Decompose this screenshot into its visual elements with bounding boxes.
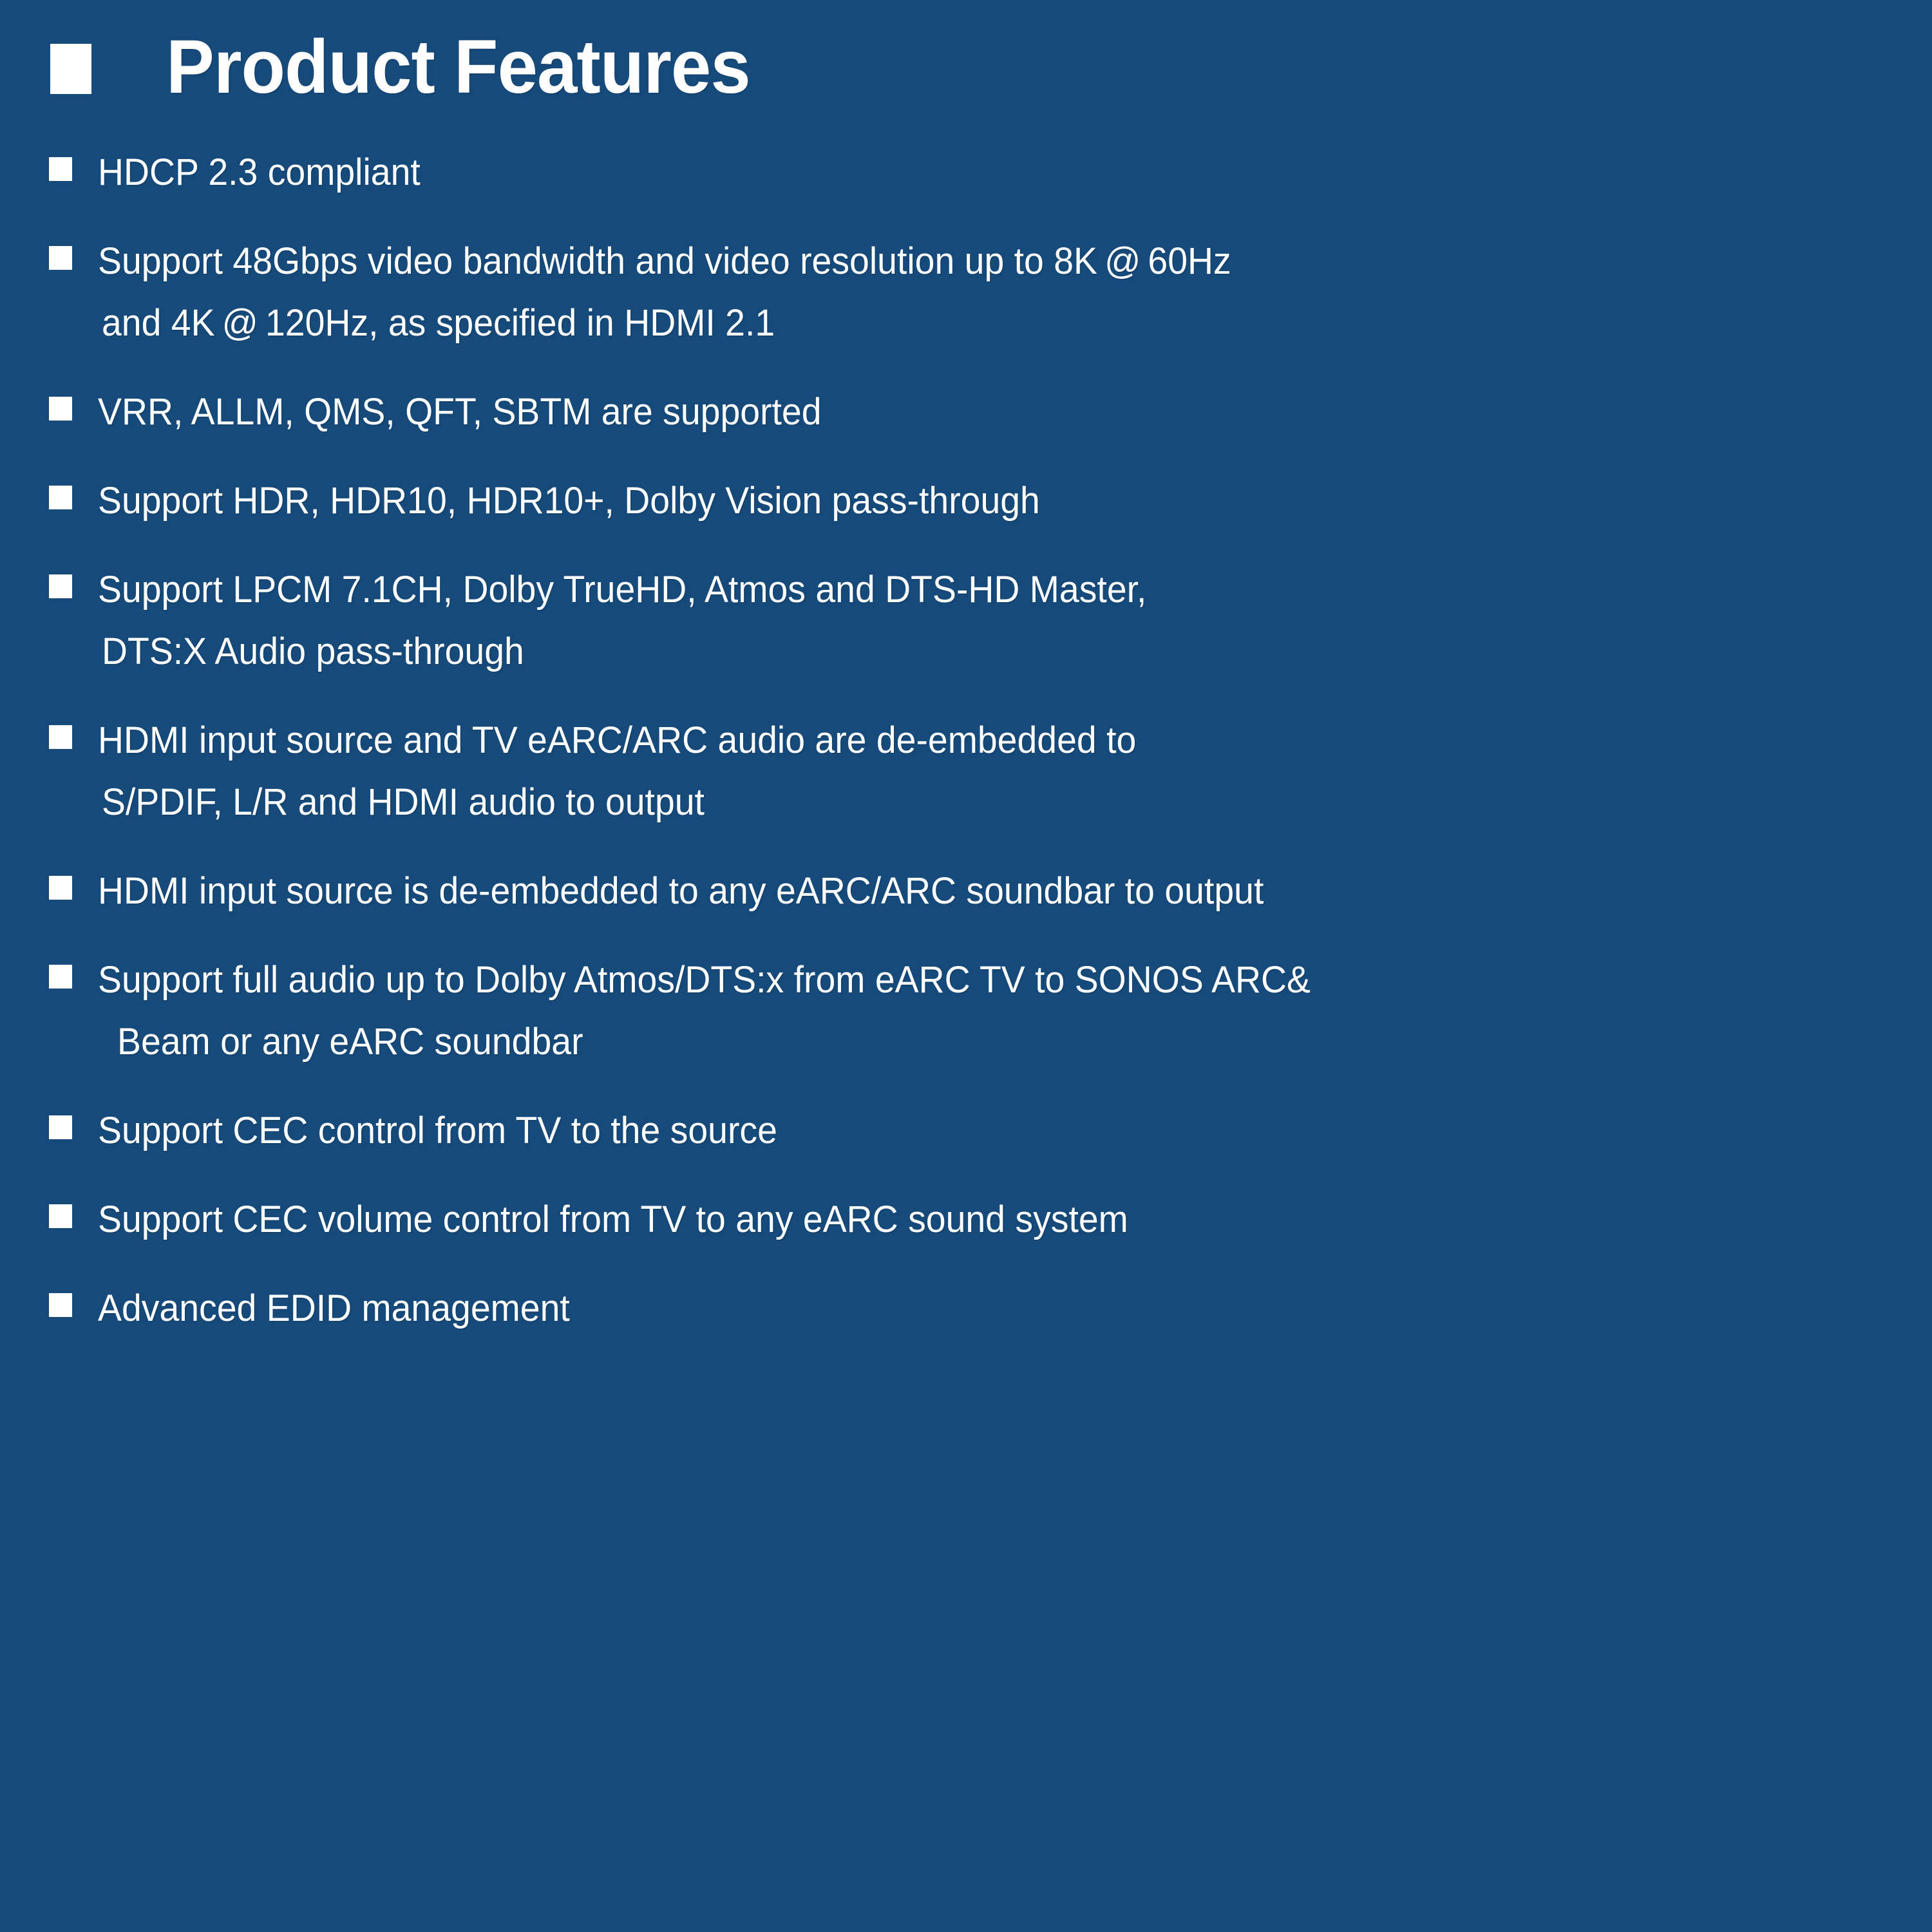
feature-text-continuation: and 4K @ 120Hz, as specified in HDMI 2.1 (102, 292, 1850, 354)
page-heading: Product Features (0, 0, 1932, 97)
product-features-page: Product Features HDCP 2.3 compliant Supp… (0, 0, 1932, 1932)
square-bullet-icon (49, 486, 72, 509)
feature-text: HDMI input source and TV eARC/ARC audio … (98, 710, 1850, 772)
square-bullet-icon (49, 574, 72, 598)
list-item: Advanced EDID management (0, 1278, 1932, 1340)
list-item: HDMI input source is de-embedded to any … (0, 860, 1932, 922)
square-bullet-icon (49, 1204, 72, 1228)
square-bullet-icon (49, 1115, 72, 1139)
feature-text: HDCP 2.3 compliant (98, 142, 1850, 204)
feature-text: Support full audio up to Dolby Atmos/DTS… (98, 949, 1850, 1011)
list-item: Support full audio up to Dolby Atmos/DTS… (0, 949, 1932, 1073)
feature-list: HDCP 2.3 compliant Support 48Gbps video … (0, 142, 1932, 1340)
list-spacer (0, 683, 1932, 710)
list-spacer (0, 443, 1932, 470)
square-bullet-icon (49, 876, 72, 900)
list-spacer (0, 1073, 1932, 1100)
list-spacer (0, 204, 1932, 231)
list-spacer (0, 354, 1932, 381)
square-bullet-icon (50, 44, 91, 94)
list-item: Support LPCM 7.1CH, Dolby TrueHD, Atmos … (0, 559, 1932, 683)
feature-text: Support LPCM 7.1CH, Dolby TrueHD, Atmos … (98, 559, 1850, 621)
list-item: Support CEC control from TV to the sourc… (0, 1100, 1932, 1162)
list-item: HDCP 2.3 compliant (0, 142, 1932, 204)
list-spacer (0, 1162, 1932, 1189)
feature-text: Advanced EDID management (98, 1278, 1850, 1340)
square-bullet-icon (49, 157, 72, 181)
feature-text: Support CEC volume control from TV to an… (98, 1189, 1850, 1251)
feature-text: Support HDR, HDR10, HDR10+, Dolby Vision… (98, 470, 1850, 532)
list-item: HDMI input source and TV eARC/ARC audio … (0, 710, 1932, 833)
feature-text-continuation: S/PDIF, L/R and HDMI audio to output (102, 772, 1850, 833)
list-item: VRR, ALLM, QMS, QFT, SBTM are supported (0, 381, 1932, 443)
feature-text: Support 48Gbps video bandwidth and video… (98, 231, 1850, 292)
feature-text: HDMI input source is de-embedded to any … (98, 860, 1850, 922)
list-spacer (0, 833, 1932, 860)
list-spacer (0, 532, 1932, 559)
list-item: Support CEC volume control from TV to an… (0, 1189, 1932, 1251)
square-bullet-icon (49, 1293, 72, 1317)
feature-text-continuation: DTS:X Audio pass-through (102, 621, 1850, 683)
square-bullet-icon (49, 246, 72, 270)
list-item: Support 48Gbps video bandwidth and video… (0, 231, 1932, 354)
square-bullet-icon (49, 725, 72, 749)
list-spacer (0, 922, 1932, 949)
square-bullet-icon (49, 397, 72, 421)
list-spacer (0, 1251, 1932, 1278)
list-item: Support HDR, HDR10, HDR10+, Dolby Vision… (0, 470, 1932, 532)
feature-text: Support CEC control from TV to the sourc… (98, 1100, 1850, 1162)
page-title: Product Features (166, 29, 750, 105)
square-bullet-icon (49, 965, 72, 989)
feature-text-continuation: Beam or any eARC soundbar (117, 1011, 1850, 1073)
feature-text: VRR, ALLM, QMS, QFT, SBTM are supported (98, 381, 1850, 443)
